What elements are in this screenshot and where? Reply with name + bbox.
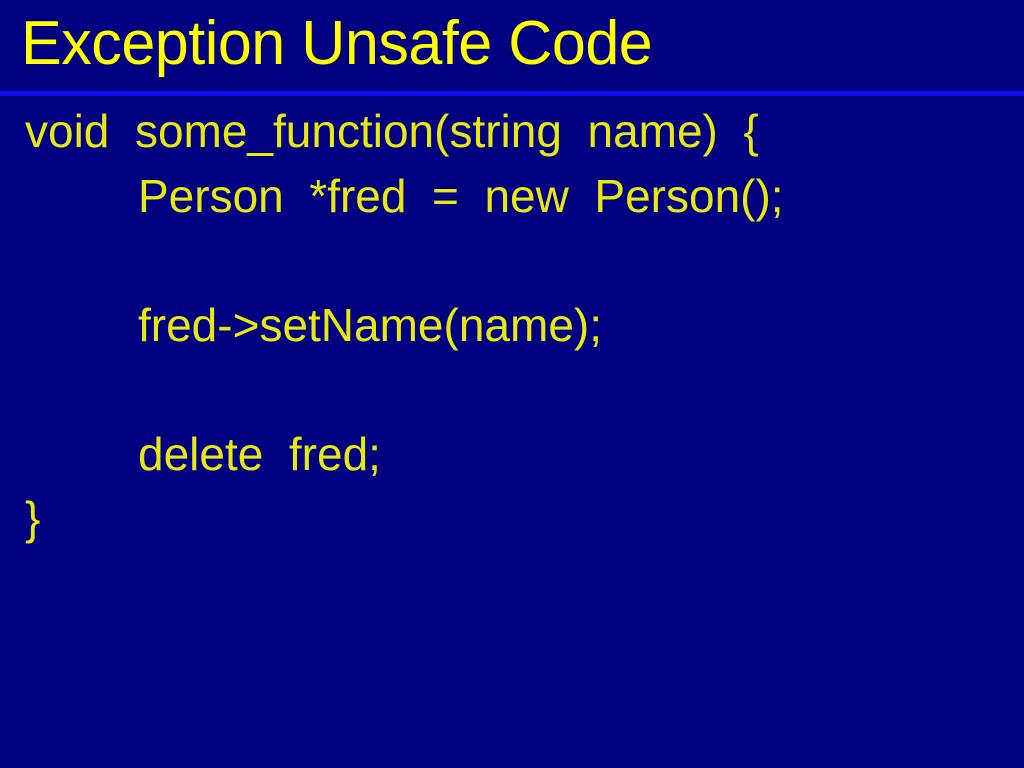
code-line: fred->setName(name);: [25, 293, 1024, 358]
title-divider-rule: [0, 91, 1024, 96]
slide-canvas: Exception Unsafe Code void some_function…: [0, 0, 1024, 768]
code-line: [25, 357, 1024, 422]
code-line: void some_function(string name) {: [25, 99, 1024, 164]
page-title: Exception Unsafe Code: [21, 6, 652, 82]
code-line: [25, 228, 1024, 293]
code-line: Person *fred = new Person();: [25, 164, 1024, 229]
code-block: void some_function(string name) {Person …: [25, 99, 1024, 551]
code-line: delete fred;: [25, 422, 1024, 487]
slide-body-area: void some_function(string name) {Person …: [0, 99, 1024, 768]
slide-title-area: Exception Unsafe Code: [0, 0, 1024, 92]
code-line: }: [25, 486, 1024, 551]
